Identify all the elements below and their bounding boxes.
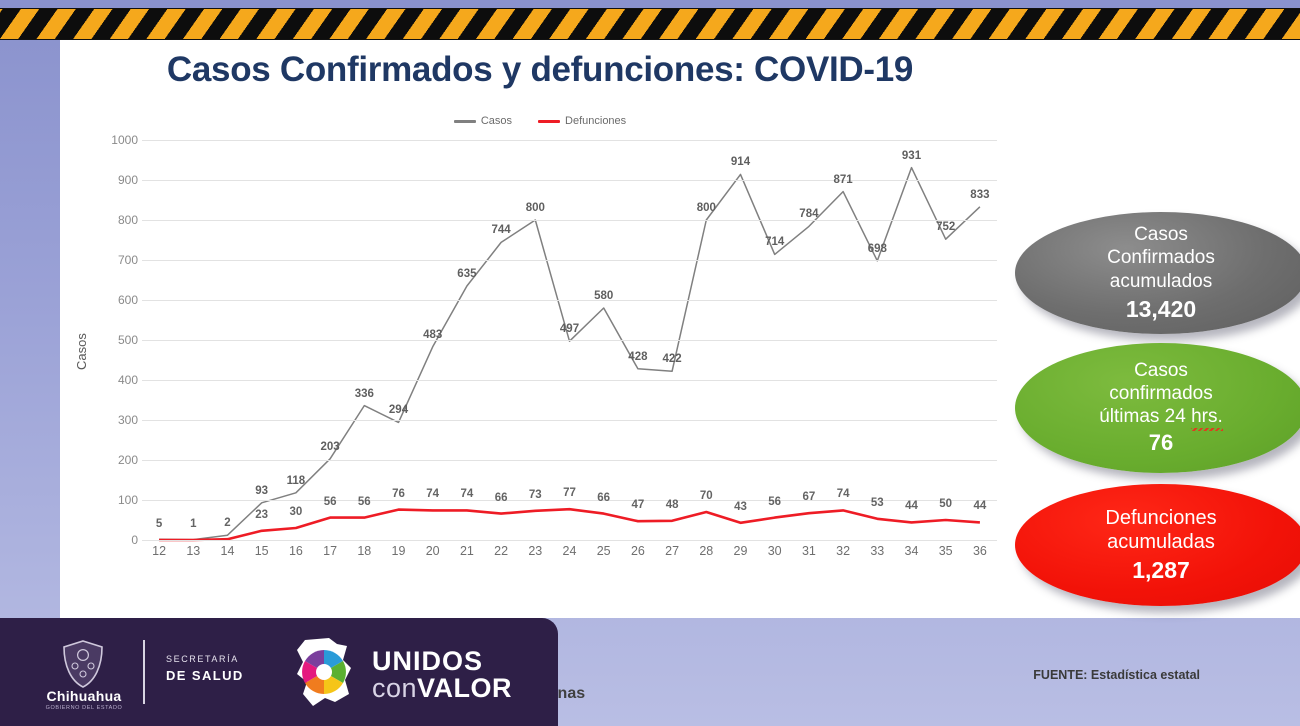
callout-deaths-line2: acumuladas — [1107, 530, 1215, 554]
data-label-casos: 497 — [560, 323, 579, 335]
x-tick-label: 28 — [699, 544, 713, 558]
data-label-casos: 744 — [492, 224, 511, 236]
y-tick-label: 600 — [94, 293, 138, 307]
state-name: Chihuahua — [40, 688, 128, 704]
gridline — [142, 180, 997, 181]
footer-bar: Chihuahua GOBIERNO DEL ESTADO SECRETARÍA… — [0, 618, 558, 726]
data-label-casos: 698 — [868, 243, 887, 255]
x-tick-label: 17 — [323, 544, 337, 558]
legend-swatch-defunciones — [538, 120, 560, 123]
x-tick-label: 20 — [426, 544, 440, 558]
footer-divider — [143, 640, 145, 704]
data-label-defunciones: 5 — [156, 518, 162, 530]
data-label-casos: 422 — [663, 353, 682, 365]
source-note: FUENTE: Estadística estatal — [1033, 668, 1200, 682]
data-label-defunciones: 77 — [563, 487, 576, 499]
data-label-defunciones: 30 — [289, 506, 302, 518]
chart-plot-area: Casos 01002003004005006007008009001000 9… — [60, 140, 1020, 620]
data-label-defunciones: 50 — [939, 498, 952, 510]
legend-label-casos: Casos — [481, 115, 512, 127]
y-tick-label: 300 — [94, 413, 138, 427]
x-tick-label: 25 — [597, 544, 611, 558]
gridline — [142, 140, 997, 141]
gridline — [142, 300, 997, 301]
x-tick-label: 26 — [631, 544, 645, 558]
chart-gridlines-and-series: 9311820333629448363574480049758042842280… — [142, 140, 997, 540]
callout-24h-line3: últimas 24 hrs. — [1099, 405, 1223, 428]
data-label-defunciones: 43 — [734, 501, 747, 513]
data-label-defunciones: 23 — [255, 509, 268, 521]
x-axis-ticks: 1213141516171819202122232425262728293031… — [142, 544, 997, 568]
data-label-casos: 784 — [799, 208, 818, 220]
data-label-casos: 800 — [526, 202, 545, 214]
x-tick-label: 33 — [870, 544, 884, 558]
y-tick-label: 700 — [94, 253, 138, 267]
callout-cases-line1: Casos — [1134, 223, 1188, 246]
gridline — [142, 340, 997, 341]
gridline — [142, 260, 997, 261]
chihuahua-shield-icon — [62, 640, 104, 688]
data-label-defunciones: 48 — [666, 499, 679, 511]
data-label-defunciones: 2 — [224, 517, 230, 529]
y-tick-label: 800 — [94, 213, 138, 227]
series-line-casos — [159, 168, 980, 540]
callout-24h-line2: confirmados — [1109, 382, 1213, 405]
data-label-casos: 871 — [834, 174, 853, 186]
legend-label-defunciones: Defunciones — [565, 115, 626, 127]
callout-deaths-accumulated: Defunciones acumuladas 1,287 — [1015, 484, 1300, 606]
callout-cases-24h: Casos confirmados últimas 24 hrs. 76 — [1015, 343, 1300, 473]
data-label-defunciones: 74 — [460, 488, 473, 500]
data-label-casos: 914 — [731, 156, 750, 168]
legend-item-defunciones: Defunciones — [538, 115, 626, 127]
x-tick-label: 14 — [221, 544, 235, 558]
data-label-casos: 483 — [423, 329, 442, 341]
data-label-defunciones: 73 — [529, 489, 542, 501]
y-tick-label: 100 — [94, 493, 138, 507]
x-tick-label: 12 — [152, 544, 166, 558]
state-subtitle: GOBIERNO DEL ESTADO — [34, 705, 134, 711]
data-label-casos: 93 — [255, 485, 268, 497]
x-tick-label: 30 — [768, 544, 782, 558]
x-tick-label: 34 — [905, 544, 919, 558]
callout-24h-hrs-misspell: hrs. — [1191, 405, 1223, 428]
gridline — [142, 420, 997, 421]
hazard-stripe-decoration — [0, 8, 1300, 40]
x-tick-label: 32 — [836, 544, 850, 558]
y-tick-label: 200 — [94, 453, 138, 467]
data-label-defunciones: 74 — [426, 488, 439, 500]
data-label-defunciones: 44 — [973, 500, 986, 512]
x-tick-label: 23 — [528, 544, 542, 558]
chart-legend: Casos Defunciones — [60, 115, 1020, 127]
data-label-casos: 203 — [321, 441, 340, 453]
x-tick-label: 31 — [802, 544, 816, 558]
secretaria-line2: DE SALUD — [166, 668, 244, 683]
data-label-defunciones: 53 — [871, 497, 884, 509]
secretaria-line1: SECRETARÍA — [166, 654, 239, 664]
campaign-con-valor: conVALOR — [372, 673, 512, 704]
x-tick-label: 21 — [460, 544, 474, 558]
x-tick-label: 15 — [255, 544, 269, 558]
y-axis-title: Casos — [74, 333, 89, 370]
legend-item-casos: Casos — [454, 115, 512, 127]
data-label-defunciones: 1 — [190, 518, 196, 530]
campaign-con: con — [372, 673, 417, 703]
data-label-casos: 336 — [355, 388, 374, 400]
x-tick-label: 36 — [973, 544, 987, 558]
data-label-defunciones: 56 — [768, 496, 781, 508]
data-label-casos: 714 — [765, 236, 784, 248]
x-tick-label: 18 — [357, 544, 371, 558]
chart-card: Casos Confirmados y defunciones: COVID-1… — [60, 40, 1300, 618]
callout-cases-value: 13,420 — [1126, 295, 1196, 323]
data-label-casos: 800 — [697, 202, 716, 214]
gridline — [142, 540, 997, 541]
page-title: Casos Confirmados y defunciones: COVID-1… — [60, 50, 1020, 90]
data-label-defunciones: 74 — [837, 488, 850, 500]
y-tick-label: 900 — [94, 173, 138, 187]
data-label-casos: 428 — [628, 351, 647, 363]
gridline — [142, 460, 997, 461]
x-tick-label: 16 — [289, 544, 303, 558]
data-label-defunciones: 66 — [597, 492, 610, 504]
gridline — [142, 220, 997, 221]
x-tick-label: 22 — [494, 544, 508, 558]
data-label-casos: 580 — [594, 290, 613, 302]
x-tick-label: 35 — [939, 544, 953, 558]
y-tick-label: 1000 — [94, 133, 138, 147]
data-label-casos: 752 — [936, 221, 955, 233]
y-tick-label: 500 — [94, 333, 138, 347]
data-label-defunciones: 44 — [905, 500, 918, 512]
x-tick-label: 13 — [186, 544, 200, 558]
data-label-defunciones: 66 — [495, 492, 508, 504]
campaign-valor: VALOR — [417, 673, 512, 703]
data-label-defunciones: 56 — [324, 496, 337, 508]
data-label-casos: 833 — [970, 189, 989, 201]
callout-24h-value: 76 — [1149, 430, 1173, 457]
data-label-defunciones: 67 — [802, 491, 815, 503]
data-label-casos: 931 — [902, 150, 921, 162]
data-label-defunciones: 76 — [392, 488, 405, 500]
callout-24h-line3-prefix: últimas 24 — [1099, 406, 1191, 427]
y-tick-label: 0 — [94, 533, 138, 547]
data-label-defunciones: 70 — [700, 490, 713, 502]
callout-24h-line1: Casos — [1134, 359, 1188, 382]
callout-deaths-line1: Defunciones — [1105, 506, 1216, 530]
x-tick-label: 27 — [665, 544, 679, 558]
callout-cases-line2: Confirmados — [1107, 246, 1215, 269]
callout-deaths-value: 1,287 — [1132, 556, 1190, 584]
unidos-con-valor-logo-icon — [285, 636, 363, 710]
data-label-defunciones: 56 — [358, 496, 371, 508]
y-axis-ticks: 01002003004005006007008009001000 — [88, 140, 138, 540]
x-tick-label: 19 — [392, 544, 406, 558]
callout-cases-accumulated: Casos Confirmados acumulados 13,420 — [1015, 212, 1300, 334]
x-tick-label: 29 — [734, 544, 748, 558]
data-label-casos: 294 — [389, 404, 408, 416]
data-label-casos: 118 — [287, 475, 306, 487]
data-label-defunciones: 47 — [631, 499, 644, 511]
y-tick-label: 400 — [94, 373, 138, 387]
callout-cases-line3: acumulados — [1110, 270, 1212, 293]
series-line-defunciones — [159, 509, 980, 540]
gridline — [142, 380, 997, 381]
x-tick-label: 24 — [563, 544, 577, 558]
legend-swatch-casos — [454, 120, 476, 123]
data-label-casos: 635 — [457, 268, 476, 280]
gridline — [142, 500, 997, 501]
